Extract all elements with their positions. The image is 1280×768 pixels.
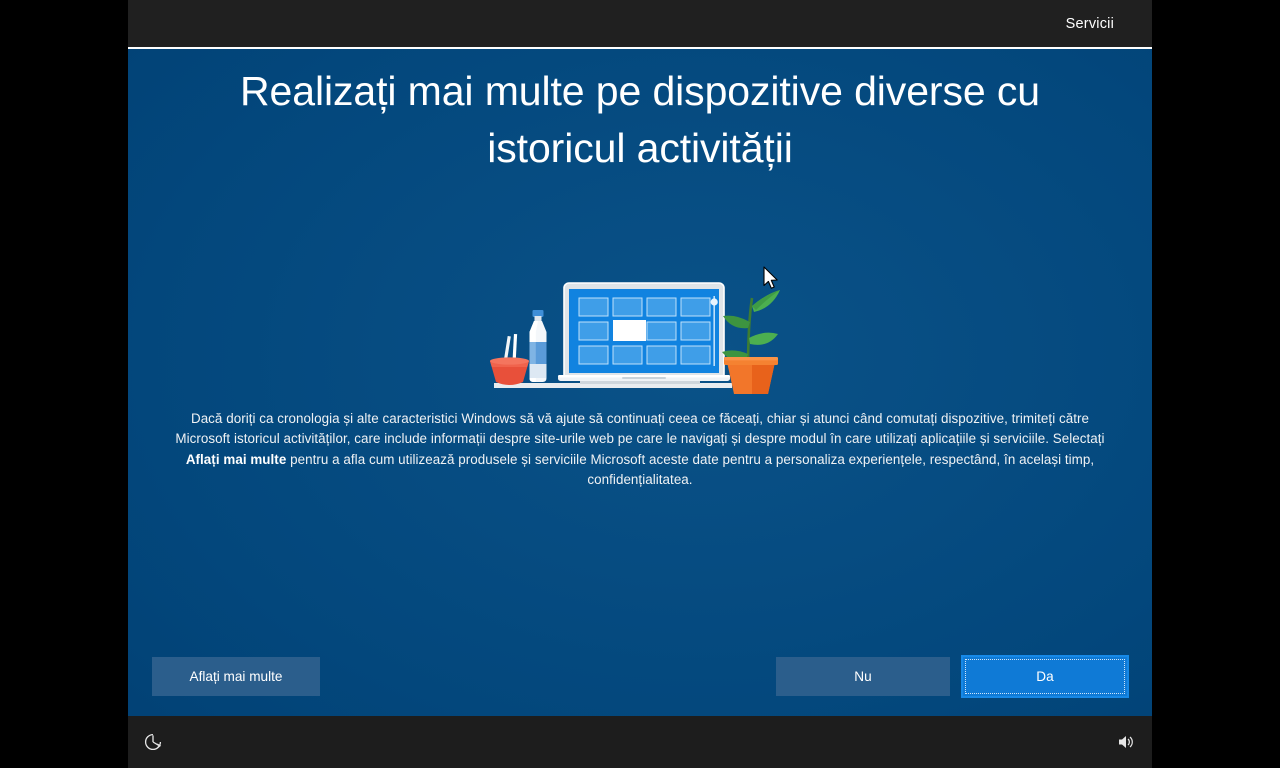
ease-of-access-icon[interactable] [130, 716, 176, 768]
page-title: Realizați mai multe pe dispozitive diver… [176, 63, 1104, 177]
oobe-window: Servicii Realizați mai multe pe dispozit… [128, 0, 1152, 768]
header-tab-list: Servicii [1028, 0, 1152, 47]
laptop-timeline-illustration [480, 264, 800, 399]
content-panel: Realizați mai multe pe dispozitive diver… [128, 49, 1152, 716]
description-bold-link: Aflați mai multe [186, 452, 287, 467]
description-text: Dacă doriți ca cronologia și alte caract… [168, 409, 1112, 491]
yes-label: Da [1036, 669, 1053, 684]
header-bar: Servicii [128, 0, 1152, 47]
description-part2: pentru a afla cum utilizează produsele ș… [286, 452, 1094, 487]
taskbar [128, 716, 1152, 768]
yes-button[interactable]: Da [961, 655, 1129, 698]
tab-servicii-label: Servicii [1066, 16, 1114, 32]
learn-more-button[interactable]: Aflați mai multe [152, 657, 320, 696]
learn-more-label: Aflați mai multe [190, 669, 283, 684]
description-part1: Dacă doriți ca cronologia și alte caract… [175, 411, 1104, 446]
no-label: Nu [854, 669, 871, 684]
tab-servicii[interactable]: Servicii [1028, 0, 1152, 47]
screen-root: Servicii Realizați mai multe pe dispozit… [0, 0, 1280, 768]
speaker-volume-icon[interactable] [1102, 716, 1148, 768]
no-button[interactable]: Nu [776, 657, 950, 696]
